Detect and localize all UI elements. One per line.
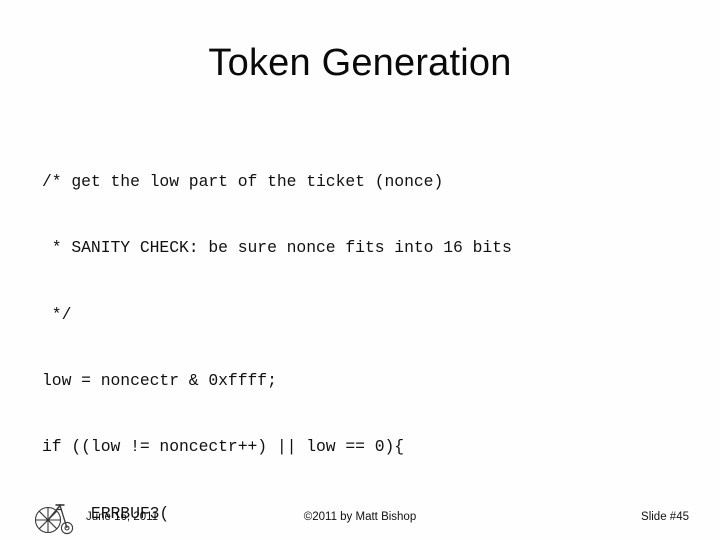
code-line: * SANITY CHECK: be sure nonce fits into … — [42, 237, 702, 259]
code-line: if ((low != noncectr++) || low == 0){ — [42, 436, 702, 458]
footer-slide-number: Slide #45 — [641, 511, 689, 523]
code-block: /* get the low part of the ticket (nonce… — [42, 127, 702, 540]
code-line: */ — [42, 304, 702, 326]
presentation-slide: Token Generation /* get the low part of … — [0, 0, 720, 540]
footer-copyright: ©2011 by Matt Bishop — [0, 511, 720, 523]
code-line: low = noncectr & 0xffff; — [42, 370, 702, 392]
slide-footer: June 16, 2011 ©2011 by Matt Bishop Slide… — [0, 500, 720, 540]
slide-title: Token Generation — [0, 44, 720, 84]
code-line: /* get the low part of the ticket (nonce… — [42, 171, 702, 193]
